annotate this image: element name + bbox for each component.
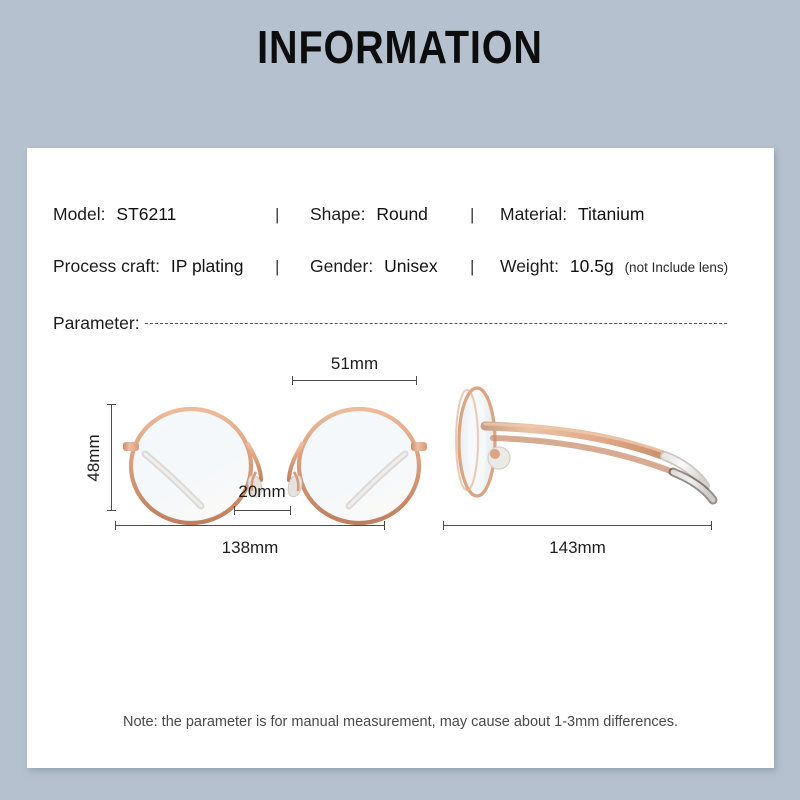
spec-weight-note: (not Include lens) [625, 260, 729, 275]
eyeglasses-side-view [441, 380, 741, 510]
spec-value-weight: 10.5g [570, 256, 614, 276]
dim-cap [443, 521, 444, 530]
spec-label-shape: Shape: [310, 204, 365, 224]
dim-line-lens-height [111, 404, 112, 511]
dim-label-lens-height: 48mm [84, 433, 104, 483]
spec-value-material: Titanium [578, 204, 644, 224]
dimension-diagram: 51mm 48mm [27, 358, 774, 688]
spec-value-shape: Round [376, 204, 428, 224]
spec-value-model: ST6211 [116, 204, 176, 224]
dim-label-total-width: 138mm [115, 538, 385, 558]
information-page: INFORMATION Model: ST6211 | Shape: Round… [0, 0, 800, 800]
dim-line-bridge-width [234, 510, 291, 511]
spec-row: Model: ST6211 | Shape: Round | Material:… [27, 201, 774, 227]
spec-cell-weight: Weight: 10.5g (not Include lens) [500, 253, 728, 281]
spec-separator: | [275, 202, 279, 228]
parameter-divider: Parameter: [53, 311, 753, 335]
page-title: INFORMATION [56, 20, 744, 74]
dim-cap [234, 506, 235, 515]
dim-cap [416, 376, 417, 385]
dim-label-temple-length: 143mm [443, 538, 712, 558]
spec-cell-material: Material: Titanium [500, 201, 644, 227]
spec-cell-gender: Gender: Unisex [310, 253, 438, 279]
dim-cap [292, 376, 293, 385]
spec-value-process-craft: IP plating [171, 256, 244, 276]
spec-label-material: Material: [500, 204, 567, 224]
spec-separator: | [275, 254, 279, 280]
measurement-note: Note: the parameter is for manual measur… [27, 714, 774, 730]
spec-separator: | [470, 254, 474, 280]
spec-row: Process craft: IP plating | Gender: Unis… [27, 253, 774, 279]
dim-label-lens-width: 51mm [292, 354, 417, 374]
spec-cell-shape: Shape: Round [310, 201, 428, 227]
dim-line-lens-width [292, 380, 417, 381]
parameter-dashed-line [145, 323, 727, 324]
spec-value-gender: Unisex [384, 256, 438, 276]
dim-cap [384, 521, 385, 530]
spec-label-gender: Gender: [310, 256, 373, 276]
dim-label-bridge-width: 20mm [207, 482, 317, 502]
spec-cell-model: Model: ST6211 [53, 201, 176, 227]
dim-line-temple-length [443, 525, 712, 526]
spec-label-weight: Weight: [500, 256, 559, 276]
dim-cap [711, 521, 712, 530]
dim-line-total-width [115, 525, 385, 526]
spec-label-model: Model: [53, 204, 106, 224]
spec-card: Model: ST6211 | Shape: Round | Material:… [27, 148, 774, 768]
eyeglasses-front-view [115, 394, 435, 534]
spec-cell-process-craft: Process craft: IP plating [53, 253, 244, 279]
dim-cap [115, 521, 116, 530]
spec-separator: | [470, 202, 474, 228]
spec-label-process-craft: Process craft: [53, 256, 160, 276]
parameter-label: Parameter: [53, 311, 140, 335]
dim-cap [290, 506, 291, 515]
